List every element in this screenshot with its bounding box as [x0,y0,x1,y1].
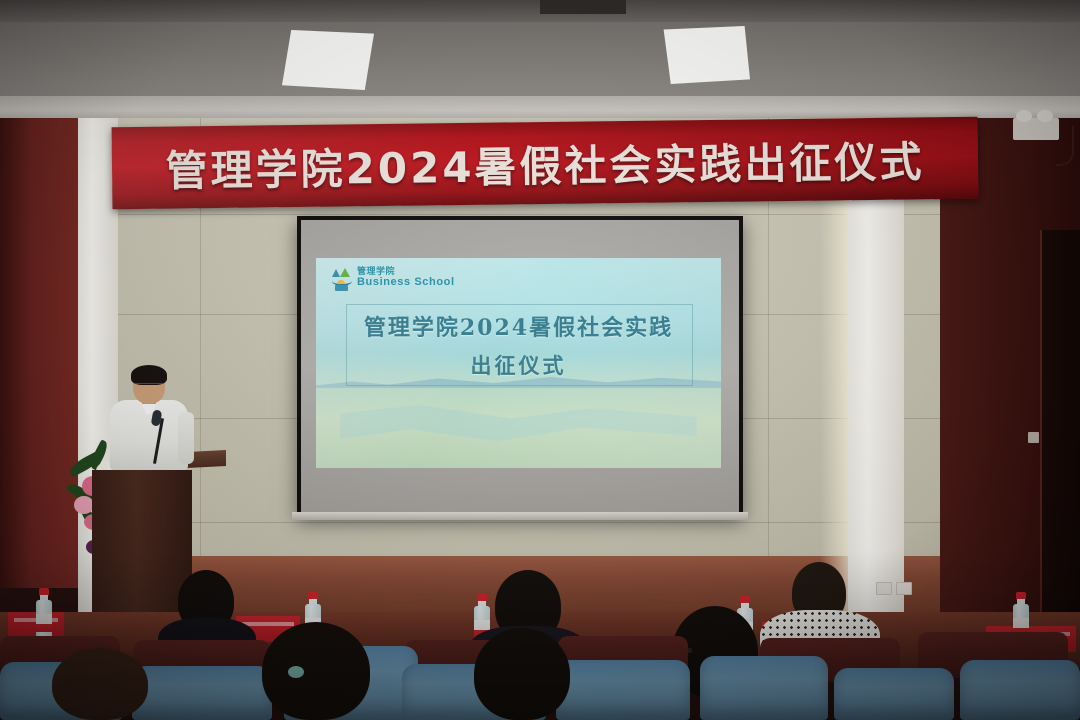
glasses-icon [135,383,163,390]
slide-title-line1: 管理学院2024暑假社会实践 [332,310,705,342]
chair[interactable] [700,656,828,720]
chair[interactable] [556,660,690,720]
slide-title: 管理学院2024暑假社会实践 出征仪式 [332,310,705,380]
chair[interactable] [132,666,272,720]
logo-english-text: Business School [357,277,455,289]
wall-outlet[interactable] [876,582,892,595]
mountain-book-icon [332,268,352,292]
door[interactable] [1040,230,1080,630]
event-banner: 管理学院2024暑假社会实践出征仪式 [112,117,979,210]
emergency-light [1013,118,1059,140]
chair[interactable] [960,660,1080,720]
photo-scene: 管理学院2024暑假社会实践出征仪式 管理学院 Business School … [0,0,1080,720]
projection-screen-weight-bar [292,512,748,520]
event-banner-text: 管理学院2024暑假社会实践出征仪式 [165,128,925,198]
presentation-slide: 管理学院 Business School 管理学院2024暑假社会实践 出征仪式 [316,258,721,468]
speaker-arm [178,412,194,464]
emergency-light-cord [1056,126,1074,166]
ceiling-panel-light [282,30,374,90]
ceiling-panel-light [660,26,750,84]
wall-outlet[interactable] [896,582,912,595]
ceiling-vent [540,0,626,14]
water-bottle[interactable] [36,588,52,640]
speaker-hair [131,365,167,385]
business-school-logo: 管理学院 Business School [332,268,455,292]
slide-title-line2: 出征仪式 [332,350,705,380]
light-switch[interactable] [1028,432,1039,443]
chair[interactable] [834,668,954,720]
